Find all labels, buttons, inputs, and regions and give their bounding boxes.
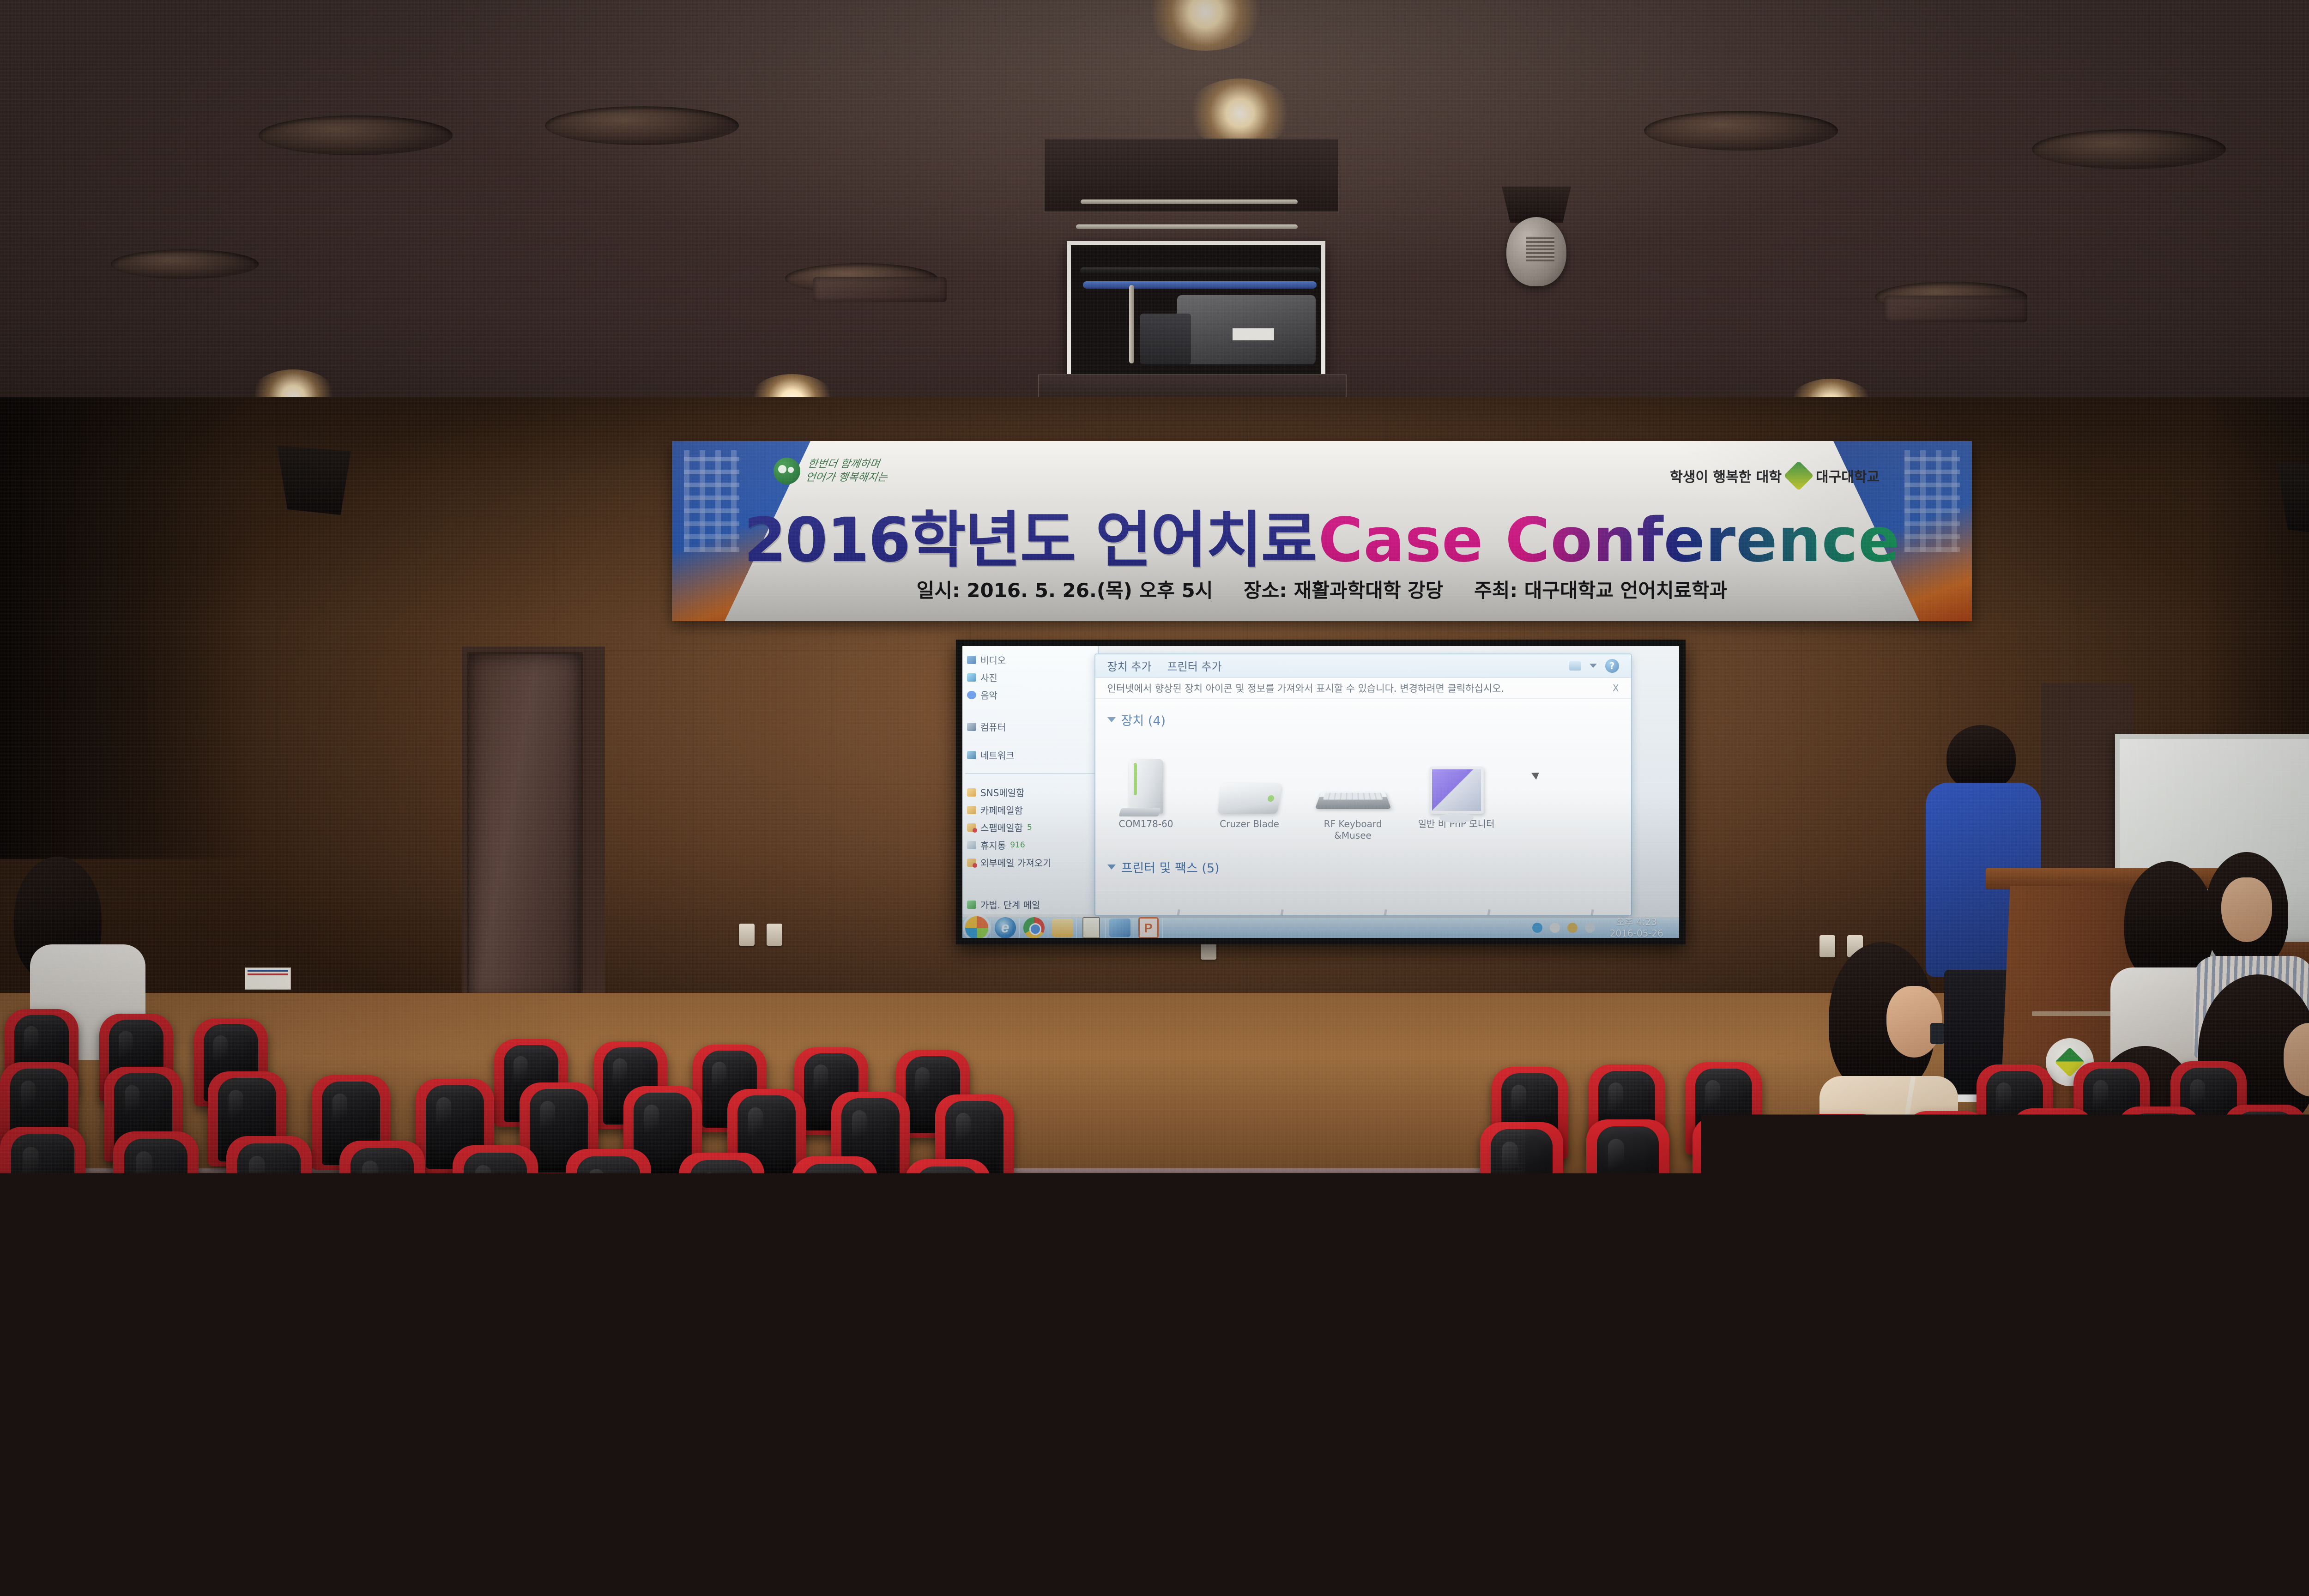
add-printer-button[interactable]: 프린터 추가 bbox=[1167, 658, 1222, 674]
device-label: Cruzer Blade bbox=[1211, 818, 1288, 830]
list-item[interactable]: 가법. 단계 메일 bbox=[967, 898, 1093, 911]
network-icon bbox=[967, 751, 976, 759]
seat[interactable] bbox=[1750, 1462, 1889, 1596]
taskbar-yellow-app-button[interactable] bbox=[1048, 918, 1077, 938]
tray-icon[interactable] bbox=[1567, 923, 1578, 933]
info-bar-text: 인터넷에서 향상된 장치 아이콘 및 정보를 가져와서 표시할 수 있습니다. … bbox=[1107, 681, 1505, 695]
list-item[interactable]: 외부메일 가져오기 bbox=[967, 856, 1093, 869]
projector-cable-blue bbox=[1083, 281, 1317, 289]
seat[interactable] bbox=[0, 1293, 109, 1425]
devices-app-icon bbox=[1109, 919, 1130, 937]
wall-outlet[interactable] bbox=[739, 924, 755, 946]
seat[interactable] bbox=[2277, 1445, 2309, 1596]
mouse-cursor-icon bbox=[1531, 769, 1541, 780]
banner-left-logo: 한번더 함께하며 언어가 행복해지는 bbox=[774, 458, 889, 484]
monitor-icon bbox=[1418, 744, 1495, 814]
group-header-label: 프린터 및 팩스 (5) bbox=[1121, 858, 1220, 876]
device-label: COM178-60 bbox=[1107, 818, 1185, 830]
device-tile[interactable]: Cruzer Blade bbox=[1211, 744, 1288, 841]
list-item[interactable]: SNS메일함 bbox=[967, 786, 1093, 799]
ceiling-vent bbox=[1884, 296, 2027, 322]
info-bar[interactable]: 인터넷에서 향상된 장치 아이콘 및 정보를 가져와서 표시할 수 있습니다. … bbox=[1095, 678, 1631, 699]
chevron-down-icon bbox=[1107, 717, 1116, 722]
device-tile[interactable]: COM178-60 bbox=[1107, 744, 1185, 841]
face bbox=[2221, 877, 2272, 942]
list-item-label: 컴퓨터 bbox=[980, 720, 1006, 733]
yellow-app-icon bbox=[1052, 919, 1073, 937]
list-item-label: 네트워크 bbox=[980, 748, 1015, 762]
clock-date: 2016-05-26 bbox=[1610, 928, 1663, 938]
aisle-step-nose bbox=[997, 1328, 1515, 1336]
seat[interactable] bbox=[0, 1413, 127, 1566]
close-icon[interactable]: X bbox=[1613, 683, 1619, 694]
keyboard-icon bbox=[1314, 744, 1392, 814]
banner-subtitle: 일시: 2016. 5. 26.(목) 오후 5시 장소: 재활과학대학 강당 … bbox=[672, 575, 1972, 603]
printer-icon bbox=[1107, 892, 1185, 916]
banner-right-logo: 학생이 행복한 대학 대구대학교 bbox=[1670, 465, 1880, 486]
seat[interactable] bbox=[845, 1327, 954, 1459]
seat[interactable] bbox=[423, 1312, 531, 1444]
video-icon bbox=[967, 656, 976, 664]
seat[interactable] bbox=[1926, 1457, 2064, 1596]
sign-line bbox=[248, 973, 288, 975]
banner-date: 일시: 2016. 5. 26.(목) 오후 5시 bbox=[917, 579, 1213, 602]
projector-label bbox=[1233, 328, 1274, 340]
windows-taskbar: e P 오후 4:23 2016-05-26 bbox=[962, 918, 1679, 938]
hair bbox=[1946, 725, 2016, 790]
folder-icon bbox=[967, 788, 976, 797]
projector-cable-black bbox=[1080, 267, 1320, 274]
command-bar-right: ? bbox=[1569, 659, 1619, 673]
windows-desktop: 비디오 사진 음악 컴퓨터 네트워크 SNS메일함 카페메일함 스팸메일함5 휴… bbox=[962, 646, 1679, 938]
mail-sidebar-window: 비디오 사진 음악 컴퓨터 네트워크 SNS메일함 카페메일함 스팸메일함5 휴… bbox=[962, 646, 1099, 914]
projection-screen-surface: 비디오 사진 음악 컴퓨터 네트워크 SNS메일함 카페메일함 스팸메일함5 휴… bbox=[962, 646, 1679, 938]
list-item-label: 가법. 단계 메일 bbox=[980, 898, 1040, 911]
modem-device-icon bbox=[1107, 744, 1185, 814]
add-device-button[interactable]: 장치 추가 bbox=[1107, 658, 1152, 674]
system-tray: 오후 4:23 2016-05-26 bbox=[1532, 916, 1679, 938]
list-item-label: 카페메일함 bbox=[980, 803, 1023, 816]
list-item-label: SNS메일함 bbox=[980, 786, 1025, 799]
taskbar-clock[interactable]: 오후 4:23 2016-05-26 bbox=[1602, 916, 1671, 938]
seat[interactable] bbox=[563, 1318, 672, 1450]
recessed-fixture bbox=[545, 106, 739, 145]
tray-volume-icon[interactable] bbox=[1585, 923, 1595, 933]
list-item[interactable]: 컴퓨터 bbox=[967, 720, 1093, 733]
seat[interactable] bbox=[820, 1447, 947, 1596]
group-header-devices[interactable]: 장치 (4) bbox=[1107, 711, 1619, 729]
divider bbox=[965, 773, 1095, 774]
ceiling-projector-lift bbox=[1030, 134, 1353, 416]
ceiling-vent bbox=[813, 277, 947, 302]
list-item-count: 5 bbox=[1027, 823, 1032, 832]
seat[interactable] bbox=[656, 1443, 783, 1595]
tray-icon[interactable] bbox=[1532, 923, 1542, 933]
seat[interactable] bbox=[328, 1431, 455, 1583]
face bbox=[1886, 986, 1942, 1058]
projector-lift-rod bbox=[1081, 199, 1298, 204]
stage-side-door[interactable] bbox=[467, 652, 583, 1003]
wall-outlet[interactable] bbox=[767, 924, 782, 946]
list-item-label: 외부메일 가져오기 bbox=[980, 856, 1052, 869]
banner-place: 장소: 재활과학대학 강당 bbox=[1244, 579, 1443, 602]
banner-left-logo-line1: 한번더 함께하며 bbox=[807, 458, 890, 471]
list-item-label: 스팸메일함 bbox=[980, 821, 1023, 834]
ceiling-camera-speaker bbox=[1506, 217, 1566, 286]
banner-title: 2016학년도 언어치료 Case Conference bbox=[672, 491, 1972, 579]
window-command-bar: 장치 추가 프린터 추가 ? bbox=[1095, 654, 1631, 678]
mailbox-items: SNS메일함 카페메일함 스팸메일함5 휴지통916 외부메일 가져오기 가법.… bbox=[962, 779, 1098, 914]
taskbar-ie-button[interactable]: e bbox=[991, 918, 1020, 938]
seat[interactable] bbox=[141, 1300, 249, 1432]
library-items: 비디오 사진 음악 컴퓨터 네트워크 bbox=[962, 646, 1098, 768]
music-icon bbox=[967, 691, 976, 699]
internet-explorer-icon: e bbox=[995, 917, 1016, 938]
devices-group-header-wrap: 장치 (4) bbox=[1095, 699, 1631, 738]
printer-tile[interactable]: OneNote 2010으로 보내기 bbox=[1521, 892, 1599, 916]
projector-keypad bbox=[1140, 314, 1191, 364]
seat[interactable] bbox=[1575, 1468, 1713, 1596]
printers-group-header-wrap: 프린터 및 팩스 (5) bbox=[1095, 846, 1631, 885]
list-item-label: 사진 bbox=[980, 671, 997, 684]
floor-access-plate bbox=[1182, 1547, 1211, 1568]
fax-icon bbox=[1211, 892, 1288, 916]
printer-tile[interactable]: ✓ Hancom PDF bbox=[1314, 892, 1392, 916]
group-header-printers[interactable]: 프린터 및 팩스 (5) bbox=[1107, 858, 1619, 876]
printer-icon bbox=[1418, 892, 1495, 916]
sign-line bbox=[248, 970, 288, 972]
chevron-down-icon bbox=[1107, 864, 1116, 870]
devices-grid: COM178-60 Cruzer Blade RF Keyboard &Muse… bbox=[1095, 738, 1631, 846]
computer-icon bbox=[967, 723, 976, 731]
aisle-step-tread bbox=[1002, 1275, 1510, 1330]
device-tile[interactable]: RF Keyboard &Musee bbox=[1314, 744, 1392, 841]
taskbar-chrome-button[interactable] bbox=[1020, 918, 1048, 938]
seat[interactable] bbox=[704, 1323, 813, 1454]
list-item[interactable]: 음악 bbox=[967, 688, 1093, 701]
wall-sign bbox=[245, 967, 291, 990]
wall-left-shadow bbox=[0, 397, 259, 859]
tray-ime-icon[interactable] bbox=[1550, 923, 1560, 933]
projection-screen: 비디오 사진 음악 컴퓨터 네트워크 SNS메일함 카페메일함 스팸메일함5 휴… bbox=[956, 640, 1686, 944]
start-button[interactable] bbox=[962, 918, 991, 938]
list-item[interactable]: 비디오 bbox=[967, 653, 1093, 666]
projector-lift-rod bbox=[1076, 224, 1298, 229]
green-mail-icon bbox=[967, 901, 976, 909]
clock-time: 오후 4:23 bbox=[1610, 916, 1663, 928]
folder-x-icon bbox=[967, 858, 976, 867]
list-item[interactable]: 휴지통916 bbox=[967, 838, 1093, 852]
folder-icon bbox=[967, 806, 976, 814]
chrome-icon bbox=[1023, 917, 1045, 938]
group-header-label: 장치 (4) bbox=[1121, 711, 1166, 729]
printer-tile[interactable]: Microsoft XPS Document Writer bbox=[1418, 892, 1495, 916]
recessed-fixture bbox=[259, 115, 453, 155]
device-tile[interactable]: 일반 비 PnP 모니터 bbox=[1418, 744, 1495, 841]
usb-drive-icon bbox=[1211, 744, 1288, 814]
start-orb-icon bbox=[965, 916, 988, 938]
projector-cable-grey bbox=[1129, 285, 1134, 363]
banner-left-logo-text: 한번더 함께하며 언어가 행복해지는 bbox=[804, 458, 890, 484]
auditorium-scene: 한번더 함께하며 언어가 행복해지는 학생이 행복한 대학 대구대학교 2016… bbox=[0, 0, 2309, 1596]
banner-left-logo-line2: 언어가 행복해지는 bbox=[804, 471, 888, 484]
printer-tile[interactable]: Adobe PDF bbox=[1107, 892, 1185, 916]
powerpoint-icon: P bbox=[1138, 917, 1159, 938]
camera-grille bbox=[1526, 236, 1554, 261]
banner-university-slogan: 학생이 행복한 대학 bbox=[1670, 465, 1782, 486]
printer-icon bbox=[1521, 892, 1599, 916]
taskbar-devices-button[interactable] bbox=[1106, 918, 1134, 938]
list-item[interactable]: 카페메일함 bbox=[967, 803, 1093, 816]
trash-icon bbox=[967, 841, 976, 849]
list-item[interactable]: 스팸메일함5 bbox=[967, 821, 1093, 834]
phone[interactable] bbox=[1930, 1023, 1944, 1044]
chevron-down-icon[interactable] bbox=[1590, 664, 1597, 668]
event-banner: 한번더 함께하며 언어가 행복해지는 학생이 행복한 대학 대구대학교 2016… bbox=[672, 441, 1972, 621]
document-app-icon bbox=[1082, 917, 1100, 938]
recessed-fixture bbox=[111, 249, 259, 279]
printer-icon-default: ✓ bbox=[1314, 892, 1392, 916]
printer-tile[interactable]: Fax bbox=[1211, 892, 1288, 916]
device-label: RF Keyboard &Musee bbox=[1314, 818, 1392, 841]
seat[interactable] bbox=[164, 1422, 291, 1575]
seat[interactable] bbox=[282, 1307, 390, 1439]
list-item[interactable]: 네트워크 bbox=[967, 748, 1093, 762]
banner-title-english: Case Conference bbox=[1318, 505, 1900, 576]
banner-title-korean: 2016학년도 언어치료 bbox=[744, 505, 1316, 576]
taskbar-document-button[interactable] bbox=[1077, 918, 1106, 938]
banner-host: 주최: 대구대학교 언어치료학과 bbox=[1474, 579, 1727, 602]
devices-and-printers-window: 장치 추가 프린터 추가 ? 인터넷에서 향상된 장치 아이콘 및 정보를 가져… bbox=[1094, 653, 1632, 916]
wall-speaker bbox=[277, 446, 351, 515]
folder-x-icon bbox=[967, 823, 976, 832]
projector-lift-frame bbox=[1067, 241, 1325, 380]
list-item-label: 휴지통 bbox=[980, 838, 1006, 852]
list-item-label: 비디오 bbox=[980, 653, 1006, 666]
green-circle-logo-icon bbox=[774, 458, 800, 484]
view-options-icon[interactable] bbox=[1569, 661, 1581, 671]
banner-university-name: 대구대학교 bbox=[1816, 465, 1880, 486]
diamond-logo-icon bbox=[1783, 460, 1813, 490]
help-icon[interactable]: ? bbox=[1605, 659, 1619, 673]
list-item[interactable]: 사진 bbox=[967, 671, 1093, 684]
taskbar-powerpoint-button[interactable]: P bbox=[1134, 918, 1163, 938]
printers-grid: Adobe PDF Fax ✓ Hancom PDF bbox=[1095, 885, 1631, 916]
photo-icon bbox=[967, 673, 976, 682]
seat[interactable] bbox=[2101, 1451, 2240, 1596]
list-item-label: 음악 bbox=[980, 688, 997, 701]
list-item-count: 916 bbox=[1010, 840, 1025, 850]
recessed-fixture bbox=[2032, 129, 2226, 169]
recessed-fixture bbox=[1644, 111, 1838, 151]
